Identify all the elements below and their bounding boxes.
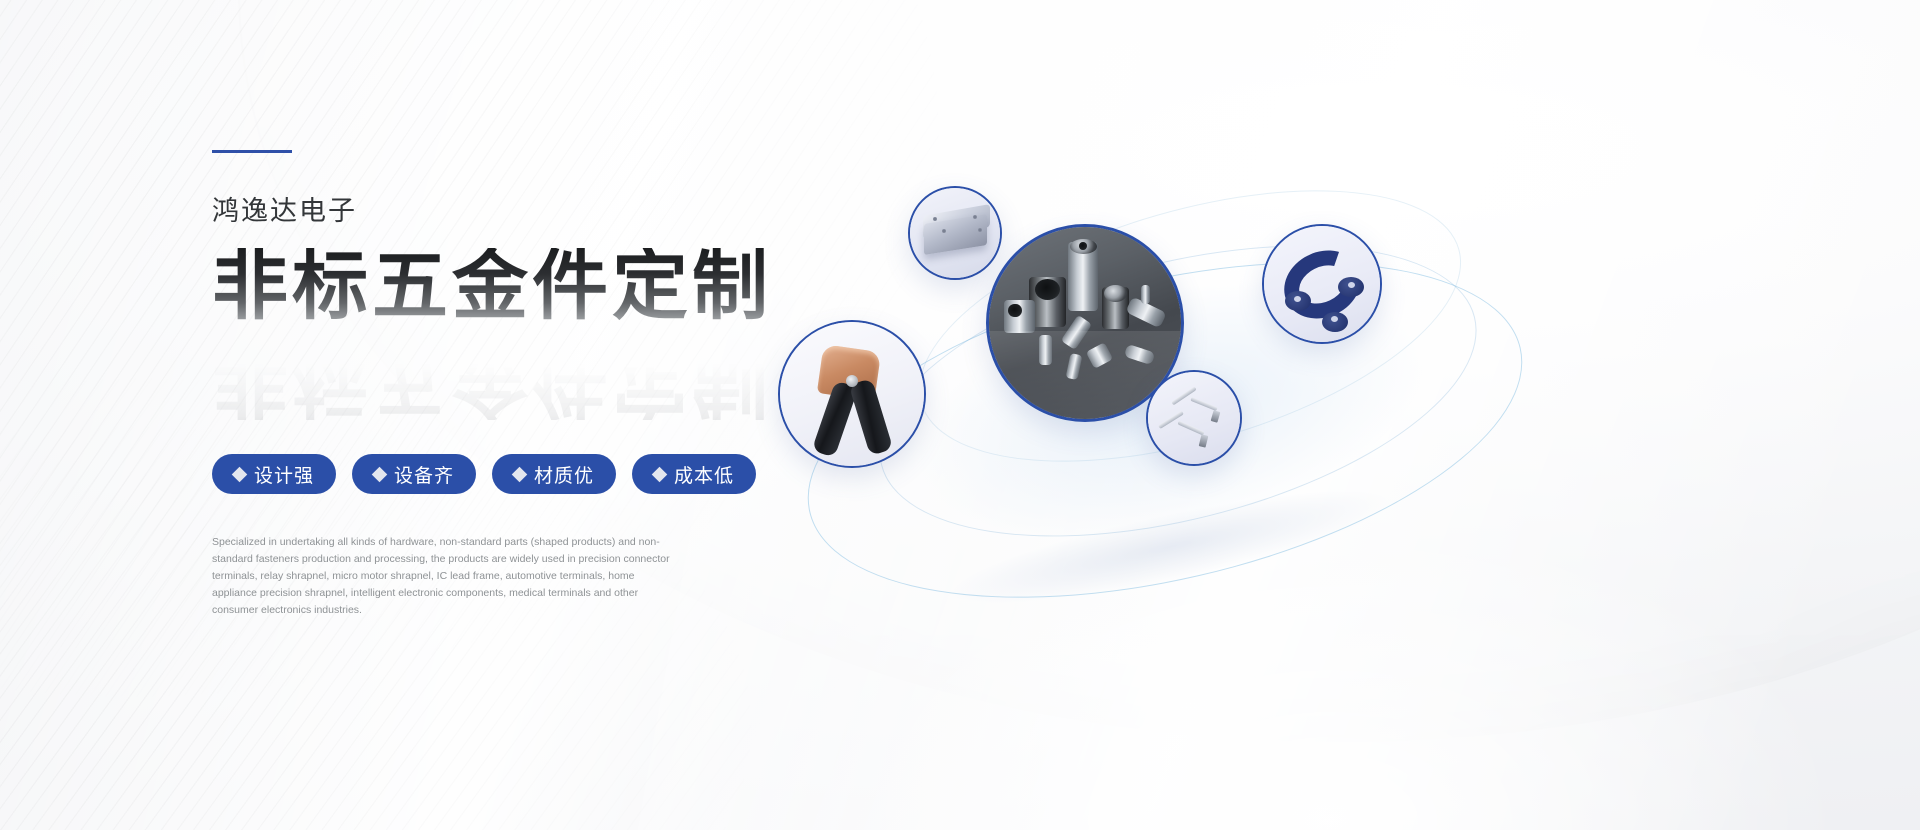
part-bushing-bore xyxy=(1035,279,1060,300)
bubble-bent-metal-terminals[interactable] xyxy=(1146,370,1242,466)
diamond-icon xyxy=(372,466,388,482)
feature-pill-label: 成本低 xyxy=(674,461,734,488)
bubble-blue-retaining-clip[interactable] xyxy=(1262,224,1382,344)
clip-eyelet xyxy=(1348,282,1355,288)
part-flange-bore xyxy=(1008,304,1021,317)
feature-pill-material[interactable]: 材质优 xyxy=(492,454,616,494)
headline-reflection: 非标五金件定制 xyxy=(212,344,772,420)
terminal-arm xyxy=(1178,421,1205,436)
battery-clamp-scene xyxy=(780,322,924,466)
terminal-tip xyxy=(1211,410,1221,423)
accent-rule xyxy=(212,150,292,153)
bubble-copper-battery-clamp[interactable] xyxy=(778,320,926,468)
terminal-tip xyxy=(1198,435,1208,448)
hero-banner: 鸿逸达电子 非标五金件定制 非标五金件定制 设计强 设备齐 材质优 成本低 xyxy=(0,0,1920,830)
feature-pill-label: 设计强 xyxy=(254,461,314,488)
terminals-scene xyxy=(1148,372,1240,464)
feature-pill-design[interactable]: 设计强 xyxy=(212,454,336,494)
part-socket-ring xyxy=(1104,285,1127,302)
clip-eyelet xyxy=(1294,296,1301,302)
part-pin-b xyxy=(1065,353,1081,380)
part-sleeve-bore xyxy=(1079,242,1087,250)
feature-pill-label: 材质优 xyxy=(534,461,594,488)
part-small-stud xyxy=(1141,285,1151,304)
feature-pill-label: 设备齐 xyxy=(394,461,454,488)
retaining-clip-scene xyxy=(1264,226,1380,342)
bubble-metal-enclosure-box[interactable] xyxy=(908,186,1002,280)
feature-pill-equipment[interactable]: 设备齐 xyxy=(352,454,476,494)
enclosure-scene xyxy=(910,188,1000,278)
part-elbow-fitting xyxy=(1086,342,1114,369)
part-hook-bracket xyxy=(1124,344,1156,366)
part-pin-a xyxy=(1039,335,1052,366)
feature-pill-cost[interactable]: 成本低 xyxy=(632,454,756,494)
clamp-grip-right xyxy=(849,378,894,456)
description-text: Specialized in undertaking all kinds of … xyxy=(212,534,682,619)
diamond-icon xyxy=(232,466,248,482)
diamond-icon xyxy=(652,466,668,482)
enclosure-screw xyxy=(973,215,977,219)
product-visual-cluster xyxy=(760,130,1860,690)
terminal-arm xyxy=(1171,387,1196,406)
diamond-icon xyxy=(512,466,528,482)
